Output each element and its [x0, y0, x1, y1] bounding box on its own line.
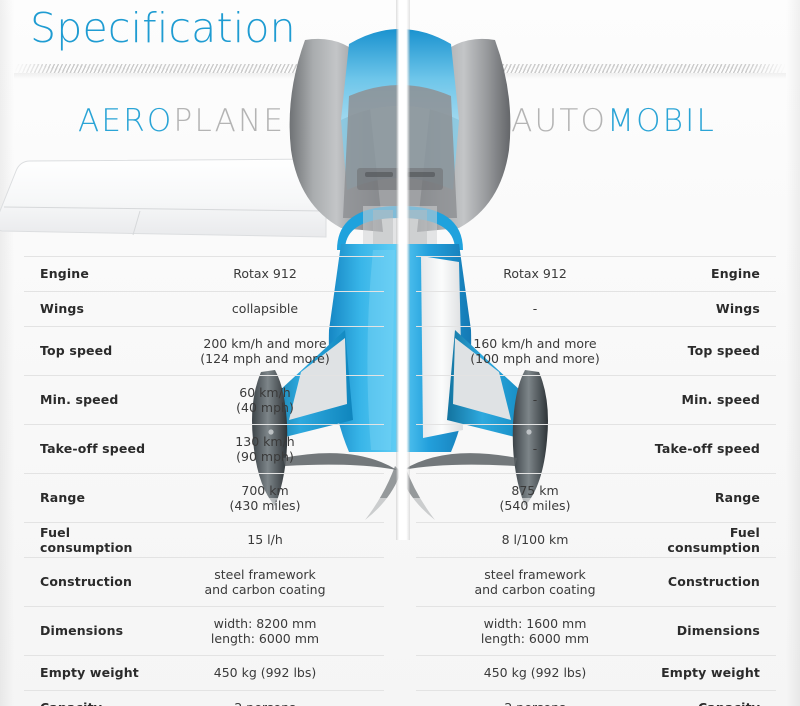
automobil-value: -: [420, 392, 650, 407]
row-label-left: Range: [0, 490, 150, 505]
row-label-right: Construction: [650, 574, 800, 589]
automobil-value: -: [420, 441, 650, 456]
row-label-left: Take-off speed: [0, 441, 150, 456]
table-row: Fuel consumption15 l/h8 l/100 kmFuel con…: [0, 522, 800, 557]
table-row: EngineRotax 912Rotax 912Engine: [0, 256, 800, 291]
table-row: Range700 km (430 miles)875 km (540 miles…: [0, 473, 800, 522]
aeroplane-value: width: 8200 mm length: 6000 mm: [150, 616, 380, 646]
hatched-divider: [14, 64, 786, 73]
table-row: Constructionsteel framework and carbon c…: [0, 557, 800, 606]
automobil-value: 160 km/h and more (100 mph and more): [420, 336, 650, 366]
aeroplane-value: steel framework and carbon coating: [150, 567, 380, 597]
automobil-value: -: [420, 301, 650, 316]
table-row: Capacity2 persons2 personsCapacity: [0, 690, 800, 706]
table-row: Min. speed60 km/h (40 mph)-Min. speed: [0, 375, 800, 424]
row-label-right: Min. speed: [650, 392, 800, 407]
aeroplane-value: 200 km/h and more (124 mph and more): [150, 336, 380, 366]
row-label-left: Min. speed: [0, 392, 150, 407]
row-label-left: Capacity: [0, 700, 150, 706]
automobil-value: 2 persons: [420, 700, 650, 706]
row-label-left: Top speed: [0, 343, 150, 358]
specification-table: EngineRotax 912Rotax 912EngineWingscolla…: [0, 256, 800, 706]
row-label-left: Construction: [0, 574, 150, 589]
row-label-left: Fuel consumption: [0, 525, 150, 555]
row-label-right: Fuel consumption: [650, 525, 800, 555]
row-label-left: Dimensions: [0, 623, 150, 638]
row-label-right: Empty weight: [650, 665, 800, 680]
automobil-value: 8 l/100 km: [420, 532, 650, 547]
aeroplane-muted-text: PLANE: [174, 103, 286, 139]
specification-page: Specification AEROPLANE AUTOMOBIL: [0, 0, 800, 706]
row-label-right: Wings: [650, 301, 800, 316]
aeroplane-value: 700 km (430 miles): [150, 483, 380, 513]
row-label-right: Top speed: [650, 343, 800, 358]
automobil-accent-text: MOBIL: [607, 103, 716, 139]
table-row: Top speed200 km/h and more (124 mph and …: [0, 326, 800, 375]
aeroplane-wing-graphic: [0, 155, 330, 250]
row-label-right: Engine: [650, 266, 800, 281]
table-row: Wingscollapsible-Wings: [0, 291, 800, 326]
aeroplane-value: Rotax 912: [150, 266, 380, 281]
automobil-value: steel framework and carbon coating: [420, 567, 650, 597]
row-label-left: Empty weight: [0, 665, 150, 680]
table-row: Empty weight450 kg (992 lbs)450 kg (992 …: [0, 655, 800, 690]
row-label-right: Take-off speed: [650, 441, 800, 456]
aeroplane-value: 15 l/h: [150, 532, 380, 547]
section-header-automobil: AUTOMOBIL: [511, 100, 716, 142]
aeroplane-value: 450 kg (992 lbs): [150, 665, 380, 680]
table-row: Take-off speed130 km/h (90 mph)-Take-off…: [0, 424, 800, 473]
page-title: Specification: [30, 2, 296, 54]
row-label-left: Engine: [0, 266, 150, 281]
section-header-aeroplane: AEROPLANE: [78, 100, 285, 142]
automobil-value: 450 kg (992 lbs): [420, 665, 650, 680]
automobil-value: Rotax 912: [420, 266, 650, 281]
row-label-left: Wings: [0, 301, 150, 316]
automobil-value: 875 km (540 miles): [420, 483, 650, 513]
hatched-divider-shadow: [14, 73, 786, 79]
aeroplane-value: collapsible: [150, 301, 380, 316]
table-row: Dimensionswidth: 8200 mm length: 6000 mm…: [0, 606, 800, 655]
automobil-value: width: 1600 mm length: 6000 mm: [420, 616, 650, 646]
aeroplane-value: 60 km/h (40 mph): [150, 385, 380, 415]
aeroplane-accent-text: AERO: [78, 103, 174, 139]
aeroplane-value: 2 persons: [150, 700, 380, 706]
row-label-right: Range: [650, 490, 800, 505]
row-label-right: Dimensions: [650, 623, 800, 638]
row-label-right: Capacity: [650, 700, 800, 706]
automobil-muted-text: AUTO: [511, 103, 607, 139]
aeroplane-value: 130 km/h (90 mph): [150, 434, 380, 464]
